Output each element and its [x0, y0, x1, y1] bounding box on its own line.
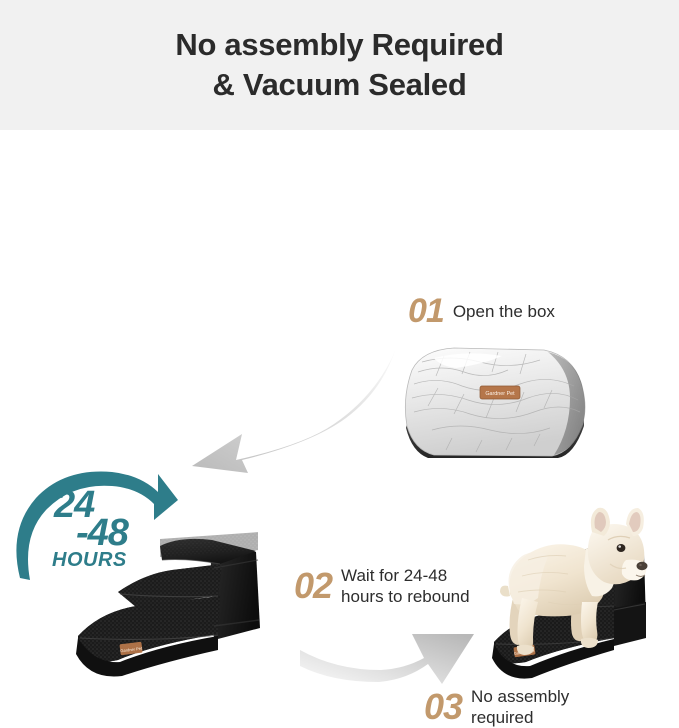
step-01-number: 01	[408, 294, 444, 328]
step-03-number: 03	[424, 689, 462, 725]
arrow-box-to-stairs-icon	[176, 342, 396, 474]
step-01-text: Open the box	[453, 301, 555, 322]
step-03-text: No assembly required	[471, 686, 569, 728]
vacuum-sealed-package-image: Gardner Pet	[398, 342, 592, 462]
pet-stairs-with-dog-image: Gardner Pet	[488, 498, 673, 683]
step-03-label: 03 No assembly required	[424, 686, 569, 728]
step-01-label: 01 Open the box	[408, 294, 555, 328]
step-02-label: 02 Wait for 24-48 hours to rebound	[294, 565, 470, 607]
header-banner: No assembly Required & Vacuum Sealed	[0, 0, 679, 130]
page-title-line-2: & Vacuum Sealed	[213, 65, 467, 105]
svg-text:Gardner Pet: Gardner Pet	[485, 391, 515, 397]
package-brand-tag: Gardner Pet	[480, 386, 520, 399]
infographic-stage: Gardner Pet 24 -48 HOURS	[0, 130, 679, 599]
pet-stairs-left-image: Gardner Pet	[60, 508, 275, 683]
step-02-text: Wait for 24-48 hours to rebound	[341, 565, 470, 607]
page-title-line-1: No assembly Required	[175, 25, 503, 65]
